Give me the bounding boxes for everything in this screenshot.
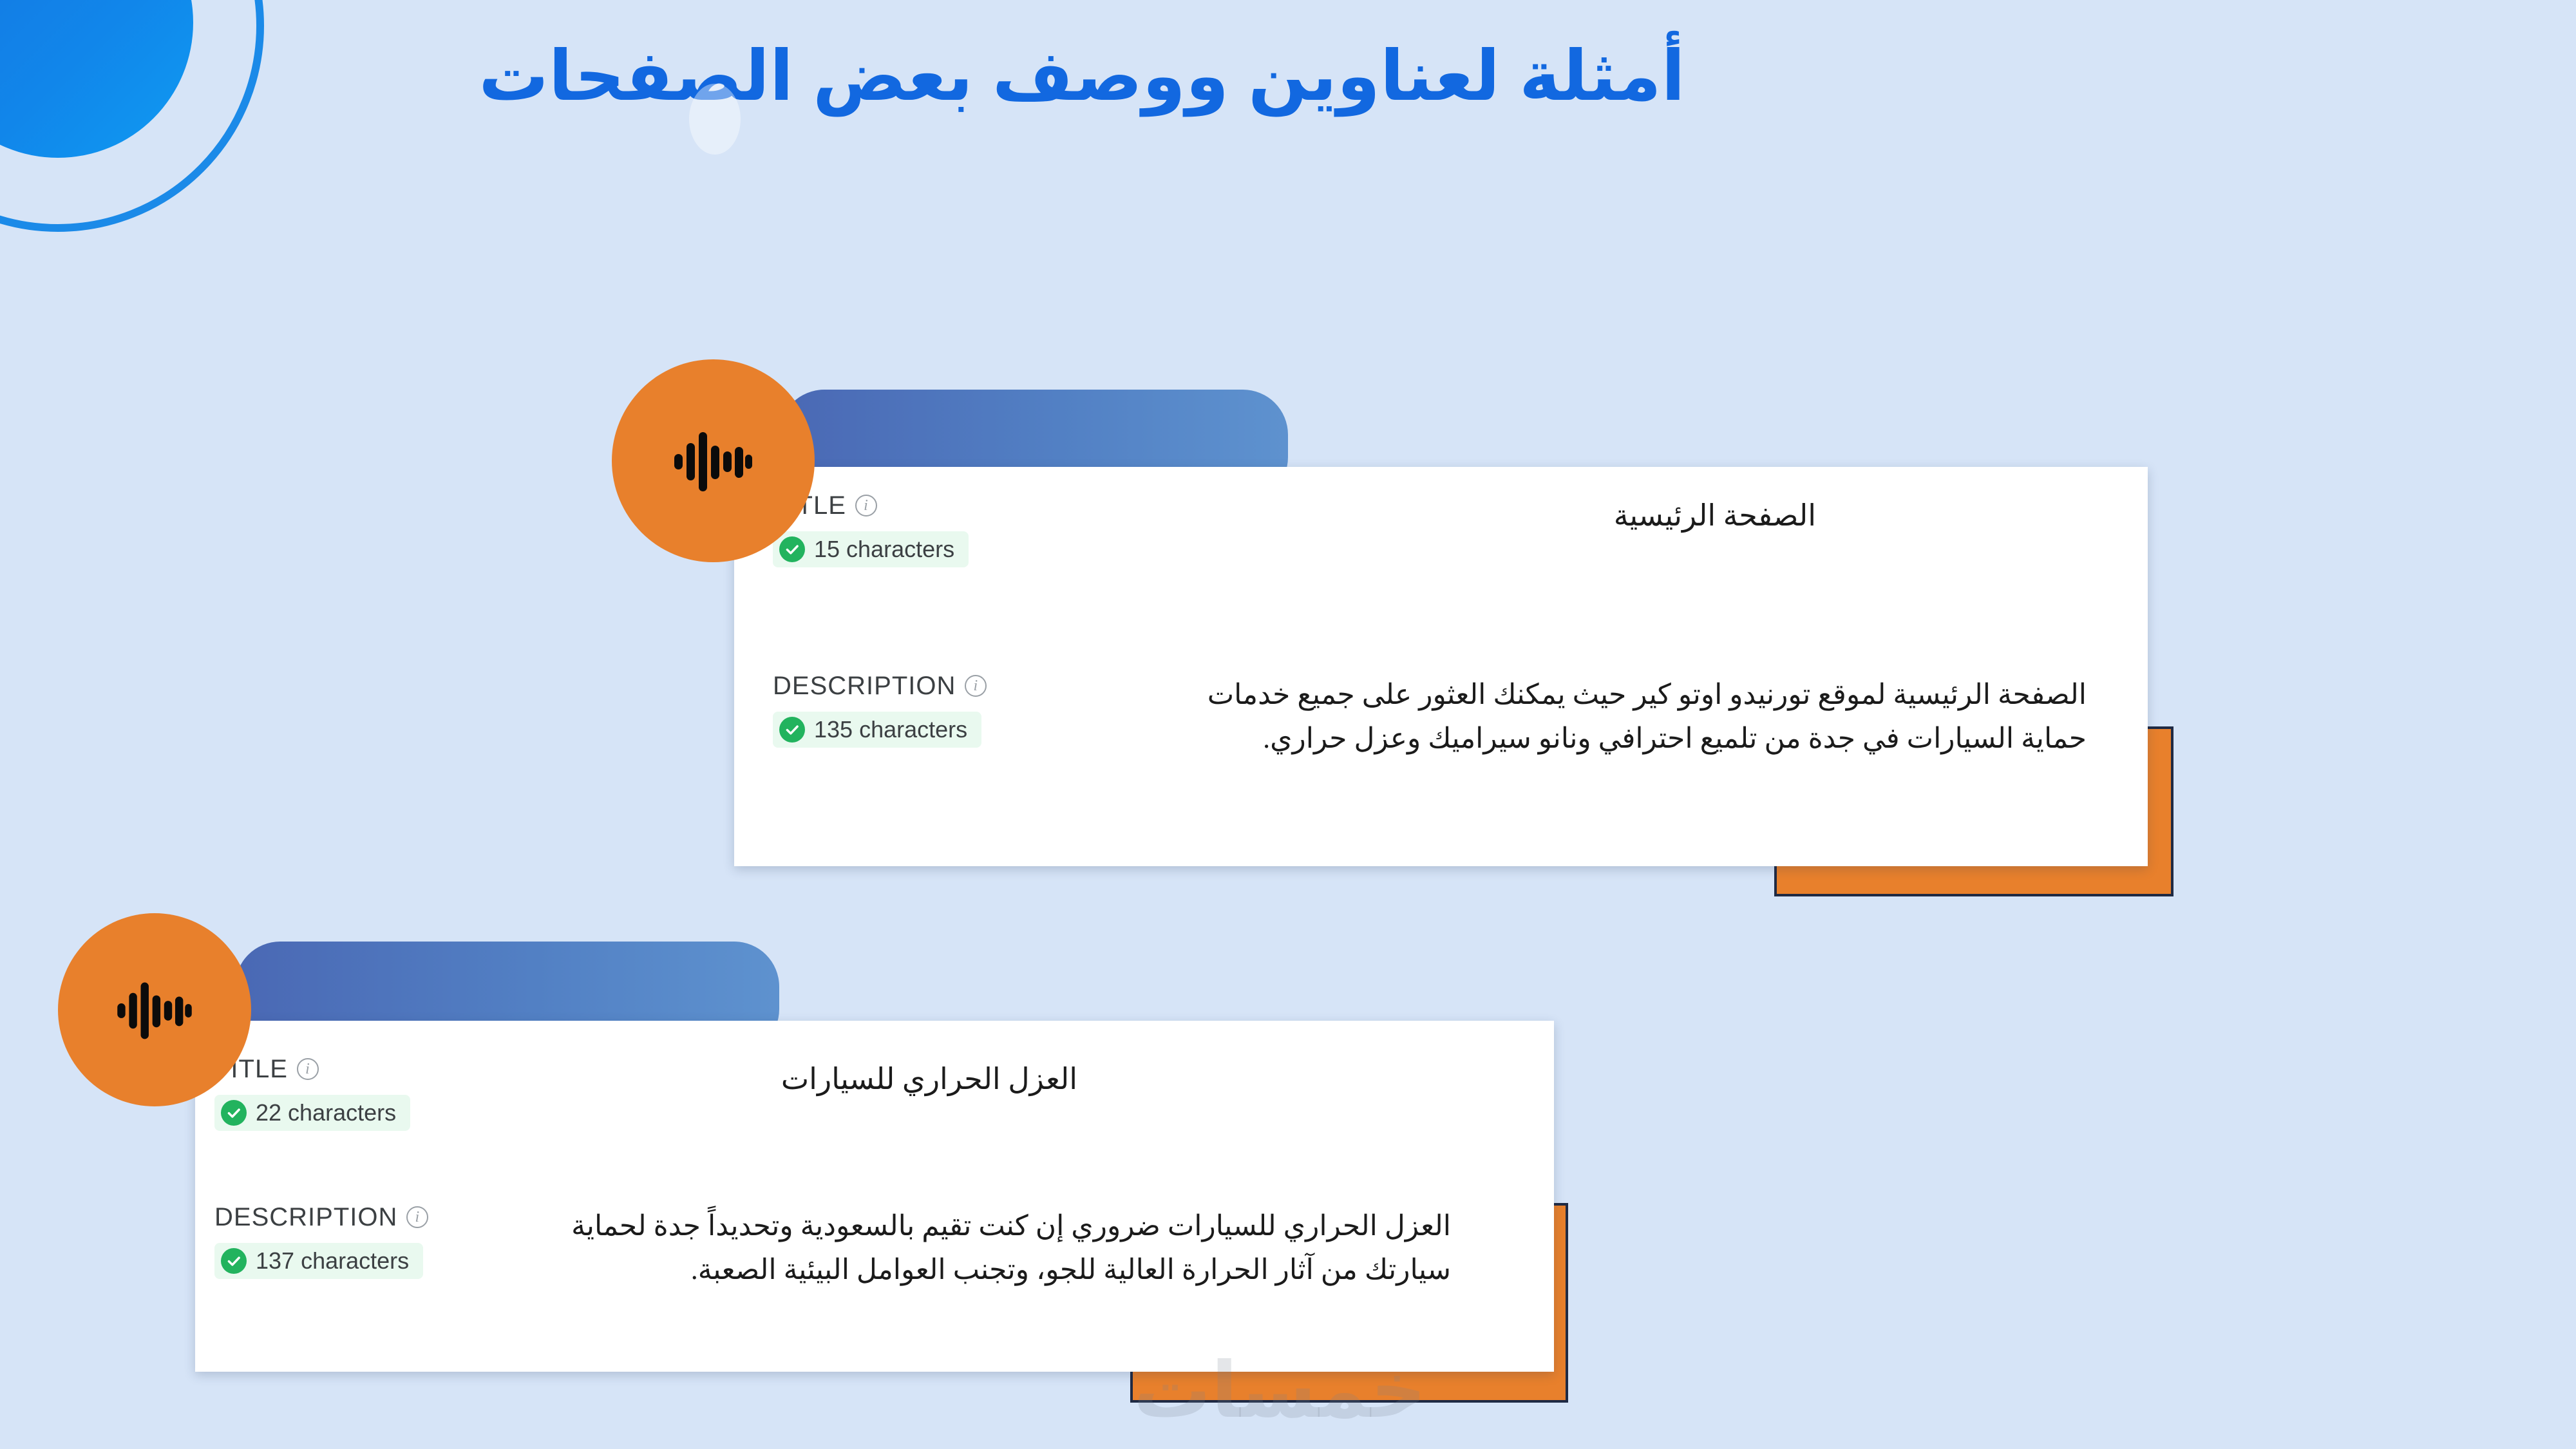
- info-icon[interactable]: i: [406, 1206, 428, 1228]
- title-char-count-badge-2: 22 characters: [214, 1095, 410, 1131]
- audio-waveform-badge-2[interactable]: [58, 913, 251, 1106]
- audio-waveform-badge-1[interactable]: [612, 359, 815, 562]
- title-char-count-text-1: 15 characters: [814, 538, 954, 561]
- title-field-label-1: TITLE i: [773, 493, 1043, 518]
- description-char-count-badge-1: 135 characters: [773, 712, 981, 748]
- info-icon[interactable]: i: [297, 1058, 319, 1080]
- title-char-count-badge-1: 15 characters: [773, 531, 969, 567]
- description-field-row-1: DESCRIPTION i 135 characters الصفحة الرئ…: [773, 673, 2112, 761]
- page-title: أمثلة لعناوين ووصف بعض الصفحات: [0, 35, 2164, 117]
- check-circle-icon: [221, 1248, 247, 1274]
- description-field-row-2: DESCRIPTION i 137 characters العزل الحرا…: [214, 1204, 1528, 1292]
- description-line-1-card1: الصفحة الرئيسية لموقع تورنيدو اوتو كير ح…: [1043, 673, 2087, 717]
- audio-waveform-icon: [673, 426, 753, 497]
- description-label-text-2: DESCRIPTION: [214, 1204, 397, 1230]
- description-line-2-card2: سيارتك من آثار الحرارة العالية للجو، وتج…: [485, 1248, 1451, 1292]
- description-line-1-card2: العزل الحراري للسيارات ضروري إن كنت تقيم…: [485, 1204, 1451, 1248]
- result-card-2: TITLE i 22 characters العزل الحراري للسي…: [195, 1021, 1554, 1372]
- description-label-text-1: DESCRIPTION: [773, 673, 956, 699]
- check-circle-icon: [779, 536, 805, 562]
- description-field-label-2: DESCRIPTION i: [214, 1204, 485, 1230]
- description-char-count-badge-2: 137 characters: [214, 1243, 423, 1279]
- description-value-2: العزل الحراري للسيارات ضروري إن كنت تقيم…: [485, 1204, 1451, 1292]
- description-field-label-1: DESCRIPTION i: [773, 673, 1043, 699]
- title-value-1: الصفحة الرئيسية: [1043, 493, 1816, 538]
- info-icon[interactable]: i: [855, 495, 877, 516]
- title-field-meta-1: TITLE i 15 characters: [773, 493, 1043, 567]
- description-char-count-text-2: 137 characters: [256, 1249, 409, 1273]
- title-field-row-2: TITLE i 22 characters العزل الحراري للسي…: [214, 1056, 1528, 1131]
- description-line-2-card1: حماية السيارات في جدة من تلميع احترافي و…: [1043, 717, 2087, 761]
- title-field-meta-2: TITLE i 22 characters: [214, 1056, 485, 1131]
- description-value-1: الصفحة الرئيسية لموقع تورنيدو اوتو كير ح…: [1043, 673, 2087, 761]
- info-icon[interactable]: i: [965, 675, 987, 697]
- title-field-label-2: TITLE i: [214, 1056, 485, 1082]
- check-circle-icon: [221, 1100, 247, 1126]
- title-value-2: العزل الحراري للسيارات: [485, 1056, 1077, 1102]
- title-field-row-1: TITLE i 15 characters الصفحة الرئيسية: [773, 493, 2112, 567]
- result-card-1: TITLE i 15 characters الصفحة الرئيسية: [734, 467, 2148, 866]
- audio-waveform-icon: [116, 976, 193, 1044]
- description-char-count-text-1: 135 characters: [814, 718, 967, 741]
- check-circle-icon: [779, 717, 805, 743]
- description-field-meta-1: DESCRIPTION i 135 characters: [773, 673, 1043, 748]
- description-field-meta-2: DESCRIPTION i 137 characters: [214, 1204, 485, 1279]
- title-char-count-text-2: 22 characters: [256, 1101, 396, 1124]
